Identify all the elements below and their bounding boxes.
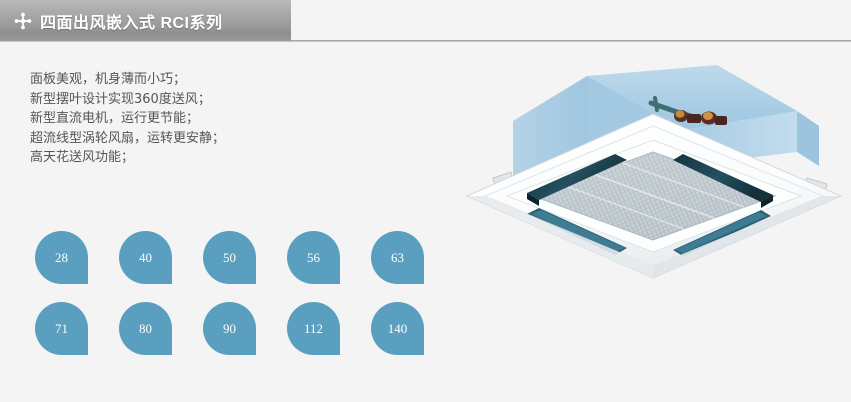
- capacity-selector: 28 40 50 56 63 71 80 90 112 140: [35, 231, 424, 355]
- capacity-button[interactable]: 112: [287, 302, 340, 355]
- feature-line: 超流线型涡轮风扇，运转更安静；: [30, 129, 430, 149]
- capacity-row: 71 80 90 112 140: [35, 302, 424, 355]
- section-header: 四面出风嵌入式 RCI系列: [0, 0, 851, 42]
- capacity-button[interactable]: 56: [287, 231, 340, 284]
- capacity-button[interactable]: 63: [371, 231, 424, 284]
- feature-list: 面板美观，机身薄而小巧； 新型摆叶设计实现360度送风； 新型直流电机，运行更节…: [30, 70, 430, 168]
- feature-line: 新型直流电机，运行更节能；: [30, 109, 430, 129]
- capacity-button[interactable]: 50: [203, 231, 256, 284]
- feature-line: 面板美观，机身薄而小巧；: [30, 70, 430, 90]
- page-title: 四面出风嵌入式 RCI系列: [40, 9, 223, 33]
- capacity-row: 28 40 50 56 63: [35, 231, 424, 284]
- feature-line: 新型摆叶设计实现360度送风；: [30, 90, 430, 110]
- capacity-button[interactable]: 90: [203, 302, 256, 355]
- capacity-button[interactable]: 140: [371, 302, 424, 355]
- header-tab[interactable]: 四面出风嵌入式 RCI系列: [0, 0, 291, 41]
- capacity-button[interactable]: 71: [35, 302, 88, 355]
- capacity-button[interactable]: 28: [35, 231, 88, 284]
- four-way-airflow-icon: [14, 12, 32, 30]
- capacity-button[interactable]: 40: [119, 231, 172, 284]
- product-image-four-way-cassette-air-conditioner: [455, 48, 851, 293]
- capacity-button[interactable]: 80: [119, 302, 172, 355]
- feature-line: 高天花送风功能；: [30, 148, 430, 168]
